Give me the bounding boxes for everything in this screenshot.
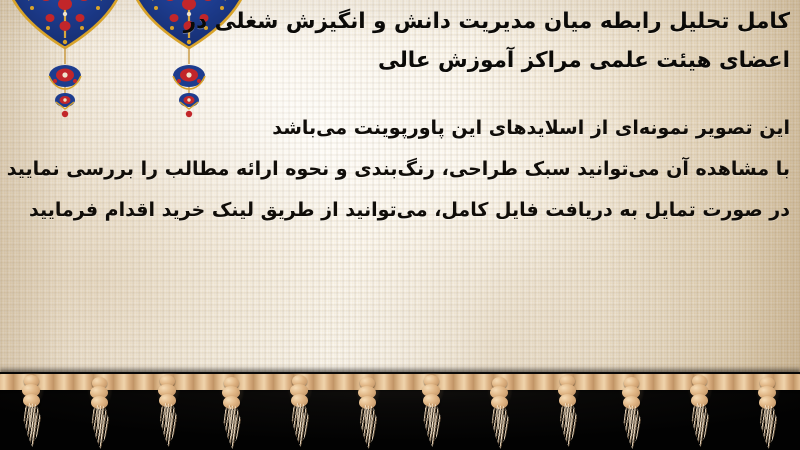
- persian-medallion-pendant-icon: [6, 0, 124, 122]
- carpet-tassel: [219, 377, 245, 450]
- carpet-tassel: [19, 375, 45, 449]
- carpet-tassel: [487, 377, 513, 450]
- carpet-tassel: [287, 375, 313, 449]
- carpet-tassel: [355, 377, 381, 450]
- carpet-tassel: [419, 375, 445, 449]
- carpet-tassel: [555, 375, 581, 449]
- slide-body-text: این تصویر نمونه‌ای از اسلایدهای این پاور…: [8, 108, 790, 231]
- bottom-black-band: [0, 372, 800, 450]
- body-line-3: در صورت تمایل به دریافت فایل کامل، می‌تو…: [8, 190, 790, 231]
- carpet-fringe-row: [0, 372, 800, 450]
- body-line-1: این تصویر نمونه‌ای از اسلایدهای این پاور…: [8, 108, 790, 149]
- body-line-2: با مشاهده آن می‌توانید سبک طراحی، رنگ‌بن…: [8, 149, 790, 190]
- slide-title-line-1: کامل تحلیل رابطه میان مدیریت دانش و انگی…: [230, 2, 790, 41]
- slide-canvas: کامل تحلیل رابطه میان مدیریت دانش و انگی…: [0, 0, 800, 450]
- carpet-tassel: [755, 377, 781, 450]
- carpet-tassel: [687, 375, 713, 449]
- carpet-tassel: [155, 375, 181, 449]
- slide-title: کامل تحلیل رابطه میان مدیریت دانش و انگی…: [230, 2, 790, 80]
- carpet-tassel: [619, 377, 645, 450]
- slide-title-line-2: اعضای هیئت علمی مراکز آموزش عالی: [230, 41, 790, 80]
- carpet-tassel: [87, 377, 113, 450]
